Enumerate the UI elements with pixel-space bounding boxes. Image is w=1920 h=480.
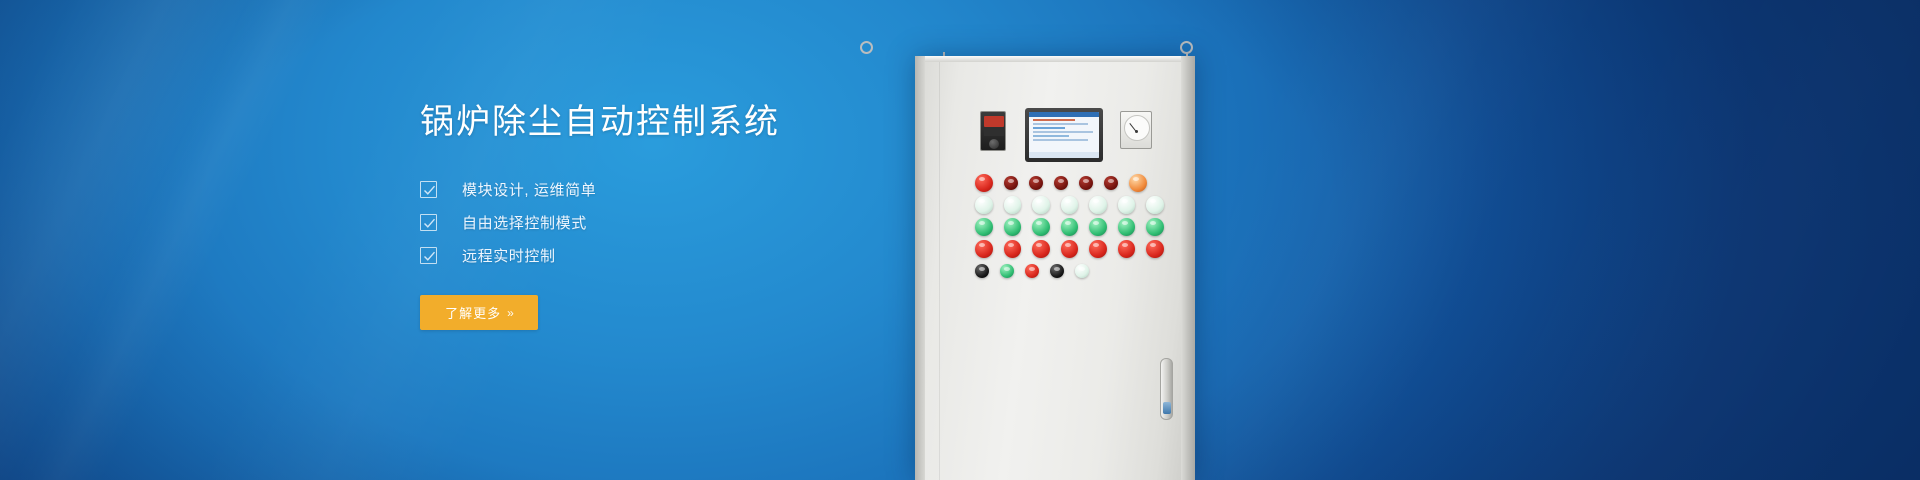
indicator-lamp bbox=[1129, 174, 1147, 192]
list-item-label: 远程实时控制 bbox=[462, 245, 556, 266]
check-box-icon bbox=[420, 247, 437, 264]
control-cabinet bbox=[915, 56, 1195, 480]
indicator-lamp bbox=[1032, 196, 1050, 214]
indicator-lamp-grid bbox=[975, 174, 1175, 282]
hmi-touchscreen bbox=[1025, 108, 1103, 162]
indicator-lamp bbox=[1104, 176, 1118, 190]
indicator-lamp bbox=[1000, 264, 1014, 278]
indicator-lamp bbox=[1146, 196, 1164, 214]
indicator-lamp bbox=[1004, 196, 1022, 214]
indicator-lamp bbox=[1061, 218, 1079, 236]
indicator-lamp bbox=[975, 196, 993, 214]
indicator-lamp bbox=[1118, 218, 1136, 236]
indicator-lamp bbox=[975, 240, 993, 258]
lock-icon bbox=[1163, 402, 1171, 414]
cabinet-top-lip bbox=[915, 56, 1195, 62]
lamp-row bbox=[975, 262, 1175, 278]
learn-more-button[interactable]: 了解更多 » bbox=[420, 295, 538, 330]
hero-banner: 锅炉除尘自动控制系统 模块设计, 运维简单 自由选择控制模式 远程实时控制 bbox=[0, 0, 1920, 480]
indicator-lamp bbox=[1032, 218, 1050, 236]
learn-more-label: 了解更多 bbox=[445, 303, 501, 322]
digital-meter bbox=[980, 111, 1006, 151]
indicator-lamp bbox=[1118, 196, 1136, 214]
indicator-lamp bbox=[975, 174, 993, 192]
lamp-row bbox=[975, 240, 1175, 258]
indicator-lamp bbox=[1089, 196, 1107, 214]
indicator-lamp bbox=[1025, 264, 1039, 278]
indicator-lamp bbox=[1029, 176, 1043, 190]
indicator-lamp bbox=[1075, 264, 1089, 278]
indicator-lamp bbox=[1054, 176, 1068, 190]
indicator-lamp bbox=[1061, 196, 1079, 214]
list-item-label: 自由选择控制模式 bbox=[462, 212, 587, 233]
indicator-lamp bbox=[1089, 218, 1107, 236]
cabinet-left-edge bbox=[915, 56, 925, 480]
lamp-row bbox=[975, 196, 1175, 214]
door-handle bbox=[1160, 358, 1173, 420]
meter-knob-icon bbox=[989, 139, 999, 149]
indicator-lamp bbox=[1061, 240, 1079, 258]
indicator-lamp bbox=[1032, 240, 1050, 258]
indicator-lamp bbox=[1004, 218, 1022, 236]
lamp-row bbox=[975, 174, 1175, 192]
lamp-row bbox=[975, 218, 1175, 236]
cabinet-door-seam bbox=[939, 62, 940, 480]
indicator-lamp bbox=[975, 264, 989, 278]
check-box-icon bbox=[420, 181, 437, 198]
indicator-lamp bbox=[1079, 176, 1093, 190]
product-image bbox=[860, 0, 1320, 480]
indicator-lamp bbox=[1004, 240, 1022, 258]
indicator-lamp bbox=[1089, 240, 1107, 258]
check-box-icon bbox=[420, 214, 437, 231]
indicator-lamp bbox=[1118, 240, 1136, 258]
chevron-right-icon: » bbox=[507, 306, 513, 320]
list-item-label: 模块设计, 运维简单 bbox=[462, 179, 596, 200]
indicator-lamp bbox=[1050, 264, 1064, 278]
analog-gauge bbox=[1120, 111, 1152, 149]
indicator-lamp bbox=[1146, 218, 1164, 236]
indicator-lamp bbox=[975, 218, 993, 236]
cabinet-right-edge bbox=[1181, 56, 1195, 480]
indicator-lamp bbox=[1146, 240, 1164, 258]
indicator-lamp bbox=[1004, 176, 1018, 190]
